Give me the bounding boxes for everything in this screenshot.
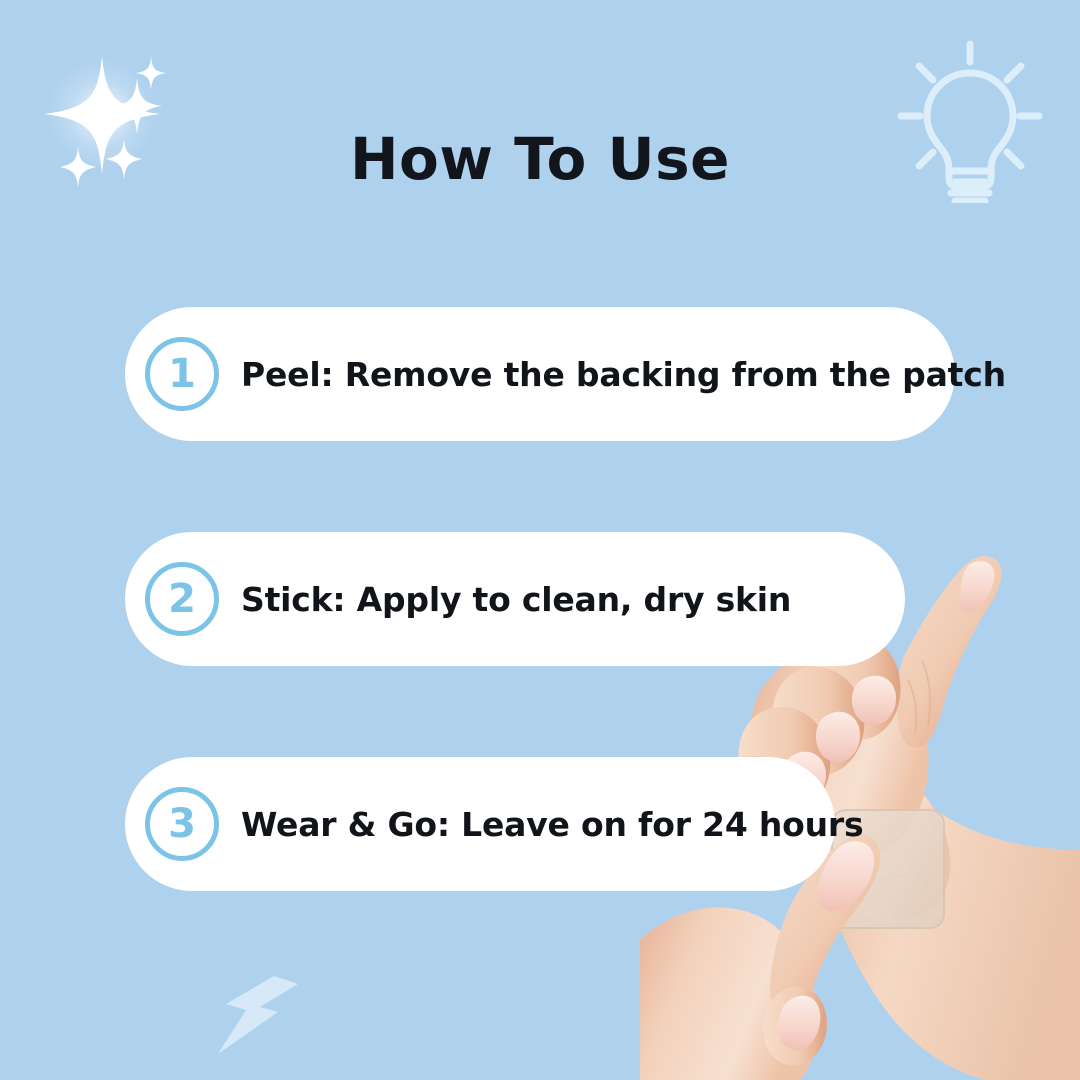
step-number-badge-3: 3	[145, 787, 219, 861]
step-text-1: Peel: Remove the backing from the patch	[241, 355, 1006, 394]
step-card-2: 2 Stick: Apply to clean, dry skin	[125, 532, 905, 666]
step-card-3: 3 Wear & Go: Leave on for 24 hours	[125, 757, 835, 891]
step-text-3: Wear & Go: Leave on for 24 hours	[241, 805, 863, 844]
poster-canvas: How To Use 1 Peel: Remove the backing fr…	[0, 0, 1080, 1080]
step-text-2: Stick: Apply to clean, dry skin	[241, 580, 791, 619]
step-card-1: 1 Peel: Remove the backing from the patc…	[125, 307, 955, 441]
step-number-badge-1: 1	[145, 337, 219, 411]
lightning-bolt-icon	[212, 962, 317, 1067]
page-title: How To Use	[0, 125, 1080, 193]
step-number-badge-2: 2	[145, 562, 219, 636]
